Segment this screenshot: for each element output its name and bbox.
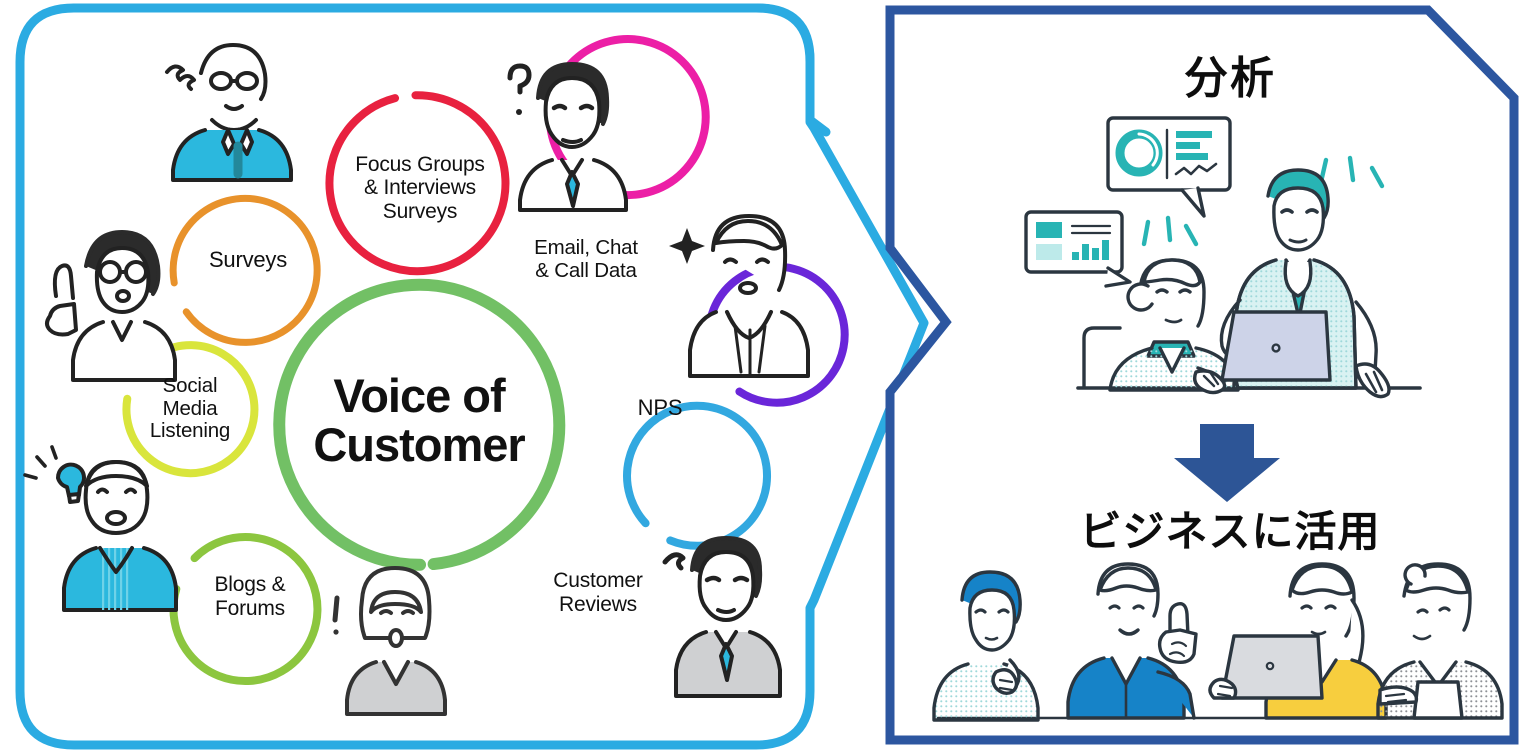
circle-label-customer-reviews: Customer Reviews: [528, 558, 668, 628]
circle-label-surveys: Surveys: [186, 242, 310, 278]
thinking-person-blue-hair: [934, 572, 1038, 720]
center-label-line-2: Customer: [313, 420, 524, 469]
circle-label-social-media-listening: Social Media Listening: [128, 362, 252, 456]
social-line-2: Media: [150, 398, 230, 421]
dashboard-card: [1026, 212, 1130, 286]
listening-person-apron: [1378, 564, 1502, 718]
social-line-1: Social: [150, 375, 230, 398]
social-line-3: Listening: [150, 420, 230, 443]
nps-line-1: NPS: [638, 396, 683, 421]
ring-customer-reviews: [625, 403, 770, 548]
ring-nps: [704, 262, 849, 407]
right-panel-border: [890, 10, 1514, 740]
blogs-line-2: Forums: [215, 597, 286, 621]
laptop: [1222, 312, 1330, 380]
left-panel-border: [74, 8, 826, 132]
reviews-line-1: Customer: [553, 569, 642, 593]
person-happy-woman-right: [669, 216, 808, 376]
pointing-person-blue-suit: [1068, 564, 1196, 718]
circle-label-nps: NPS: [604, 391, 716, 425]
surveys-line-1: Surveys: [209, 248, 287, 273]
blogs-line-1: Blogs &: [215, 573, 286, 597]
person-worried-man-bottom-right: [665, 538, 780, 696]
email-line-2: & Call Data: [534, 260, 638, 283]
focus-line-2: & Interviews: [355, 176, 485, 200]
center-label-line-1: Voice of: [313, 371, 524, 420]
seated-analyst: [1110, 260, 1238, 393]
person-elderly-man-top-left: [167, 45, 291, 180]
circle-label-blogs-forums: Blogs & Forums: [184, 562, 316, 632]
business-scene: [934, 564, 1502, 720]
business-use-title: ビジネスに活用: [1000, 498, 1460, 559]
focus-line-1: Focus Groups: [355, 153, 485, 177]
circle-label-email-chat-call: Email, Chat & Call Data: [510, 225, 662, 295]
analysis-title: 分析: [1080, 42, 1380, 106]
ring-email-chat: [542, 31, 713, 202]
laptop-person-yellow-top: [1210, 564, 1386, 718]
standing-analyst: [1221, 170, 1389, 397]
circle-label-focus-groups: Focus Groups & Interviews Surveys: [340, 138, 500, 238]
email-line-1: Email, Chat: [534, 237, 638, 260]
down-arrow: [1174, 424, 1280, 502]
analysis-scene: [1026, 118, 1420, 397]
reviews-line-2: Reviews: [553, 593, 642, 617]
right-panel-outline: [888, 8, 1516, 742]
person-idea-man-left-lower: [25, 447, 176, 610]
circle-label-voice-of-customer: Voice of Customer: [288, 352, 550, 488]
donut-chart-card: [1108, 118, 1230, 216]
focus-line-3: Surveys: [355, 200, 485, 224]
person-pointing-man-left: [47, 232, 175, 380]
person-questioning-man-top: [510, 64, 626, 210]
diagram-canvas: Voice of Customer Surveys Focus Groups &…: [0, 0, 1536, 751]
person-surprised-woman-bottom: [333, 568, 445, 714]
